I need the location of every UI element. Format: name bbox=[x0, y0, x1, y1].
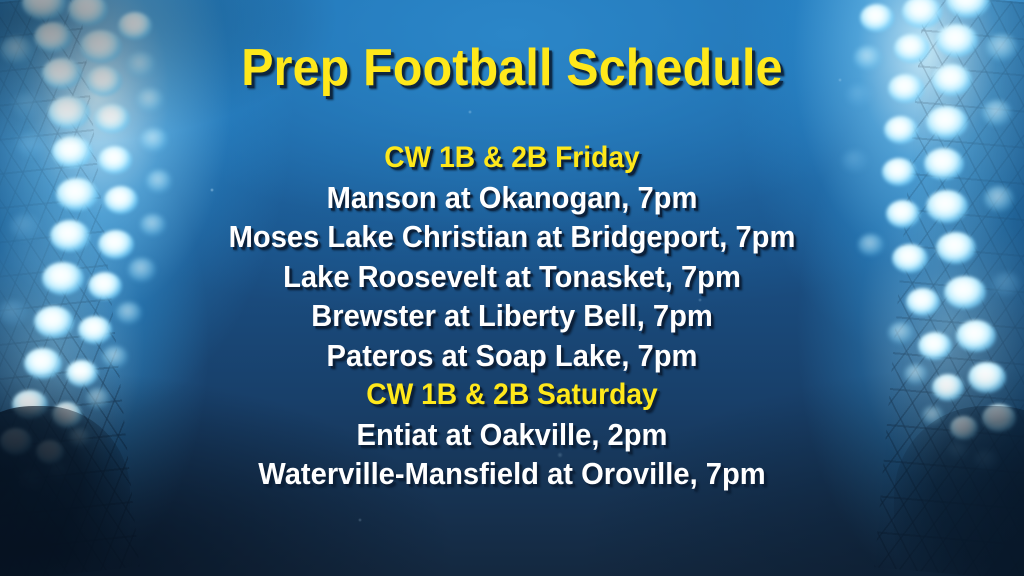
section-heading-saturday: CW 1B & 2B Saturday bbox=[31, 375, 994, 415]
game-line: Moses Lake Christian at Bridgeport, 7pm bbox=[31, 217, 994, 257]
game-line: Lake Roosevelt at Tonasket, 7pm bbox=[31, 257, 994, 297]
section-heading-friday: CW 1B & 2B Friday bbox=[31, 138, 994, 178]
game-line: Brewster at Liberty Bell, 7pm bbox=[31, 296, 994, 336]
game-line: Pateros at Soap Lake, 7pm bbox=[31, 336, 994, 376]
page-title: Prep Football Schedule bbox=[36, 40, 988, 96]
schedule-content: Prep Football Schedule CW 1B & 2B Friday… bbox=[0, 0, 1024, 576]
game-line: Manson at Okanogan, 7pm bbox=[31, 178, 994, 218]
game-line: Waterville-Mansfield at Oroville, 7pm bbox=[31, 454, 994, 494]
game-line: Entiat at Oakville, 2pm bbox=[31, 415, 994, 455]
broadcast-graphic: Prep Football Schedule CW 1B & 2B Friday… bbox=[0, 0, 1024, 576]
schedule-list: CW 1B & 2B Friday Manson at Okanogan, 7p… bbox=[0, 138, 1024, 494]
